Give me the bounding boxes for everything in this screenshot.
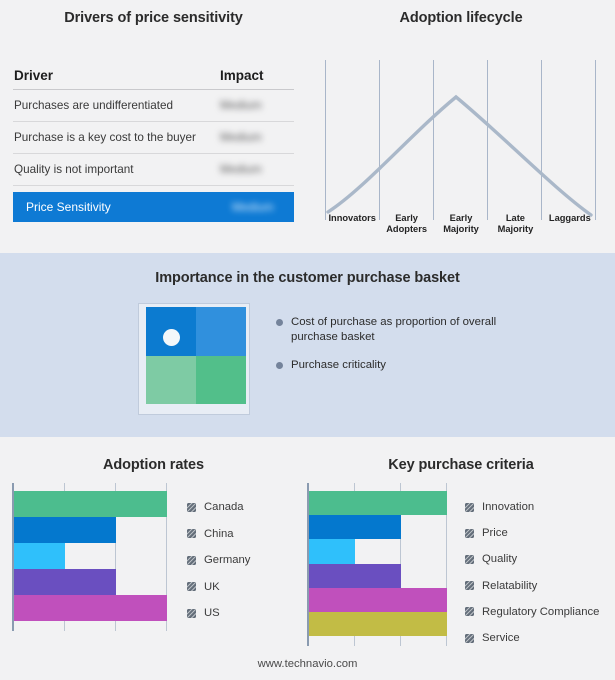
bar-us[interactable] <box>14 595 167 621</box>
bars-container <box>309 491 447 636</box>
bar-quality[interactable] <box>309 539 355 563</box>
legend-label: Purchase criticality <box>291 358 386 373</box>
column-header-impact: Impact <box>220 68 294 83</box>
legend-swatch-icon <box>187 556 196 565</box>
lifecycle-stage-labels: Innovators Early Adopters Early Majority… <box>325 213 597 235</box>
legend-item-innovation[interactable]: Innovation <box>465 494 599 520</box>
legend-label: Quality <box>482 553 517 565</box>
stage-label-early-majority: Early Majority <box>434 213 488 235</box>
stage-label-innovators: Innovators <box>325 213 379 235</box>
stage-label-early-adopters: Early Adopters <box>379 213 433 235</box>
legend-label: Germany <box>204 554 250 566</box>
key-purchase-criteria-chart: Innovation Price Quality Relatability Re… <box>307 483 607 651</box>
lifecycle-title: Adoption lifecycle <box>307 10 615 26</box>
key-purchase-criteria-title: Key purchase criteria <box>307 457 615 473</box>
purchase-basket-panel: Importance in the customer purchase bask… <box>0 253 615 437</box>
infographic-page: Drivers of price sensitivity Driver Impa… <box>0 0 615 680</box>
impact-value: Medium <box>220 99 294 112</box>
legend-label: Cost of purchase as proportion of overal… <box>291 315 501 345</box>
legend-label: Service <box>482 632 520 644</box>
adoption-rates-legend: Canada China Germany UK US <box>187 483 250 627</box>
lifecycle-panel: Adoption lifecycle Innovators Early Adop… <box>307 0 615 253</box>
legend-swatch-icon <box>187 609 196 618</box>
legend-item-relatability[interactable]: Relatability <box>465 573 599 599</box>
bar-service[interactable] <box>309 612 447 636</box>
driver-label: Purchases are undifferentiated <box>13 99 220 112</box>
adoption-rates-title: Adoption rates <box>0 457 307 473</box>
stage-label-late-majority: Late Majority <box>488 213 542 235</box>
bar-regulatory-compliance[interactable] <box>309 588 447 612</box>
quadrant-bottom-right <box>196 356 246 405</box>
adoption-rates-chart: Canada China Germany UK US <box>12 483 297 631</box>
impact-value: Medium <box>220 163 294 176</box>
legend-label: US <box>204 607 220 619</box>
position-dot-icon <box>163 329 180 346</box>
bullet-dot-icon <box>276 319 283 326</box>
stage-label-laggards: Laggards <box>543 213 597 235</box>
bullet-dot-icon <box>276 362 283 369</box>
drivers-panel: Drivers of price sensitivity Driver Impa… <box>0 0 307 253</box>
bell-curve <box>325 60 597 220</box>
basket-legend: Cost of purchase as proportion of overal… <box>276 315 596 386</box>
legend-swatch-icon <box>465 607 474 616</box>
key-purchase-criteria-legend: Innovation Price Quality Relatability Re… <box>465 483 599 651</box>
drivers-table: Driver Impact Purchases are undifferenti… <box>13 62 294 222</box>
column-header-driver: Driver <box>13 68 220 83</box>
table-row[interactable]: Purchases are undifferentiated Medium <box>13 90 294 122</box>
table-row[interactable]: Quality is not important Medium <box>13 154 294 186</box>
legend-swatch-icon <box>465 503 474 512</box>
table-header-row: Driver Impact <box>13 62 294 90</box>
bar-relatability[interactable] <box>309 564 401 588</box>
basket-title: Importance in the customer purchase bask… <box>0 270 615 286</box>
bar-price[interactable] <box>309 515 401 539</box>
legend-swatch-icon <box>465 529 474 538</box>
key-purchase-criteria-panel: Key purchase criteria Innovatio <box>307 437 615 647</box>
bars-container <box>14 491 167 621</box>
drivers-title: Drivers of price sensitivity <box>0 10 307 26</box>
legend-item-regulatory-compliance[interactable]: Regulatory Compliance <box>465 599 599 625</box>
legend-label: Regulatory Compliance <box>482 606 599 618</box>
plot-area <box>307 483 447 646</box>
bar-uk[interactable] <box>14 569 116 595</box>
legend-swatch-icon <box>465 581 474 590</box>
legend-item-us[interactable]: US <box>187 600 250 627</box>
legend-label: China <box>204 528 234 540</box>
legend-item-china[interactable]: China <box>187 521 250 548</box>
legend-item: Purchase criticality <box>276 358 596 373</box>
quadrant-bottom-left <box>146 356 196 405</box>
driver-label: Price Sensitivity <box>25 200 232 214</box>
bar-canada[interactable] <box>14 491 167 517</box>
driver-label: Purchase is a key cost to the buyer <box>13 131 220 144</box>
legend-label: Canada <box>204 501 244 513</box>
legend-item-service[interactable]: Service <box>465 625 599 651</box>
impact-value: Medium <box>220 131 294 144</box>
legend-item-quality[interactable]: Quality <box>465 546 599 572</box>
legend-swatch-icon <box>187 503 196 512</box>
table-row[interactable]: Purchase is a key cost to the buyer Medi… <box>13 122 294 154</box>
legend-item-price[interactable]: Price <box>465 520 599 546</box>
adoption-rates-panel: Adoption rates Canada <box>0 437 307 647</box>
bar-innovation[interactable] <box>309 491 447 515</box>
footer-url: www.technavio.com <box>0 658 615 670</box>
driver-label: Quality is not important <box>13 163 220 176</box>
quadrant-top-right <box>196 307 246 356</box>
legend-item-uk[interactable]: UK <box>187 574 250 601</box>
legend-label: Price <box>482 527 508 539</box>
legend-swatch-icon <box>465 555 474 564</box>
legend-item: Cost of purchase as proportion of overal… <box>276 315 596 345</box>
impact-value: Medium <box>232 201 294 214</box>
bar-germany[interactable] <box>14 543 65 569</box>
table-row-highlighted[interactable]: Price Sensitivity Medium <box>13 192 294 222</box>
legend-label: UK <box>204 581 220 593</box>
quadrant-grid <box>146 307 246 404</box>
quadrant-matrix <box>138 303 250 415</box>
legend-swatch-icon <box>465 634 474 643</box>
legend-swatch-icon <box>187 582 196 591</box>
legend-swatch-icon <box>187 529 196 538</box>
plot-area <box>12 483 167 631</box>
legend-label: Innovation <box>482 501 534 513</box>
bar-china[interactable] <box>14 517 116 543</box>
legend-label: Relatability <box>482 580 537 592</box>
legend-item-germany[interactable]: Germany <box>187 547 250 574</box>
lifecycle-chart: Innovators Early Adopters Early Majority… <box>325 60 597 228</box>
legend-item-canada[interactable]: Canada <box>187 494 250 521</box>
